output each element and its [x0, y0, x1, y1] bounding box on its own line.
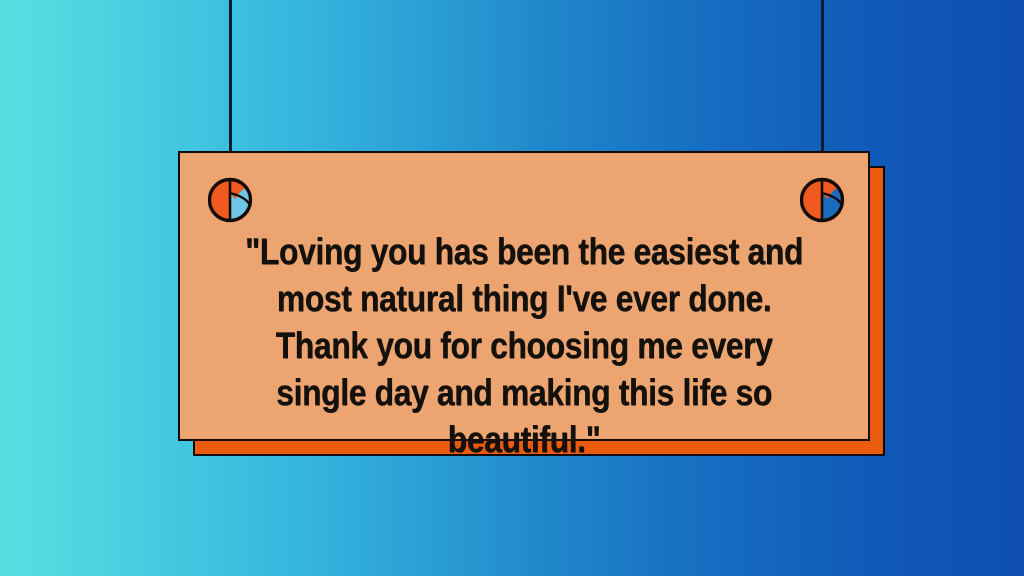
emblem-circle-icon-right — [799, 177, 845, 223]
quote-text: "Loving you has been the easiest and mos… — [238, 228, 809, 463]
emblem-circle-icon-left — [207, 177, 253, 223]
quote-card-canvas: "Loving you has been the easiest and mos… — [0, 0, 1024, 576]
